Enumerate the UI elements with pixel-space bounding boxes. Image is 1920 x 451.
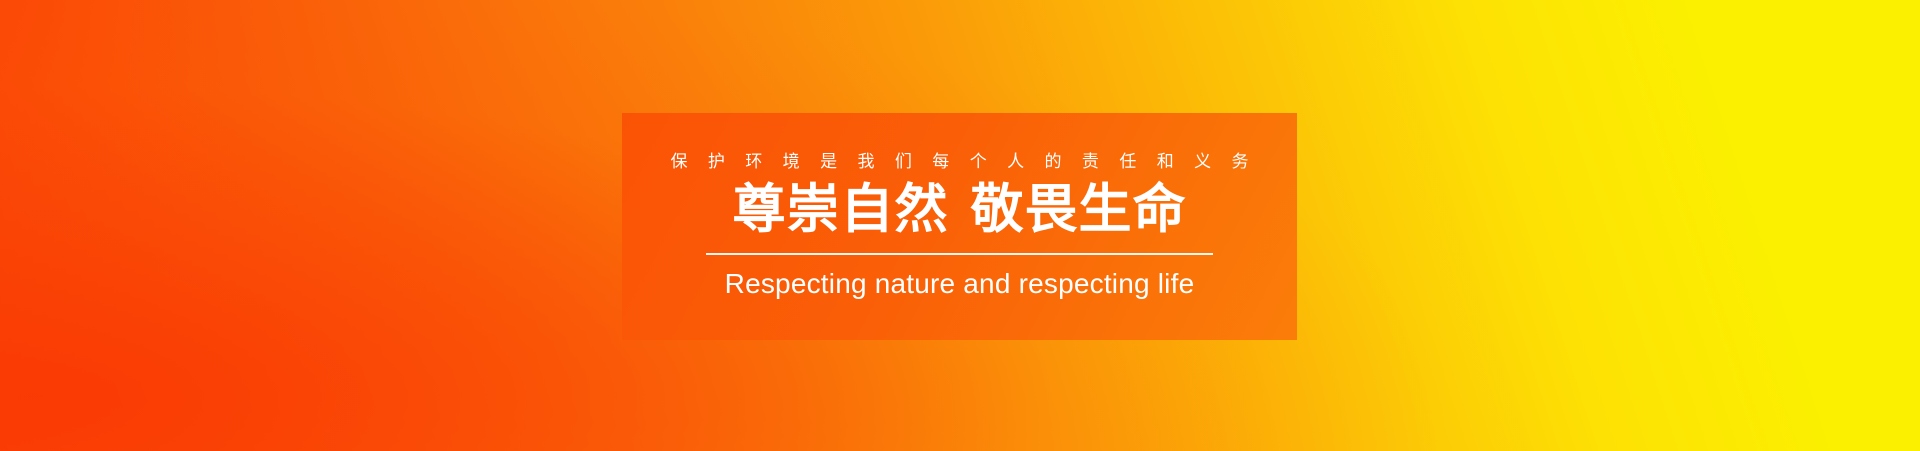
headline-divider-rule xyxy=(706,253,1213,255)
headline-segment-primary: 尊崇自然 xyxy=(733,179,949,240)
kicker-text: 保 护 环 境 是 我 们 每 个 人 的 责 任 和 义 务 xyxy=(663,154,1256,171)
headline-segment-secondary: 敬畏生命 xyxy=(971,179,1187,240)
headline: 尊崇自然敬畏生命 xyxy=(733,182,1187,238)
slogan-panel: 保 护 环 境 是 我 们 每 个 人 的 责 任 和 义 务 尊崇自然敬畏生命… xyxy=(622,113,1297,340)
subtitle-text: Respecting nature and respecting life xyxy=(725,269,1195,300)
environmental-slogan-banner: 保 护 环 境 是 我 们 每 个 人 的 责 任 和 义 务 尊崇自然敬畏生命… xyxy=(0,0,1920,451)
